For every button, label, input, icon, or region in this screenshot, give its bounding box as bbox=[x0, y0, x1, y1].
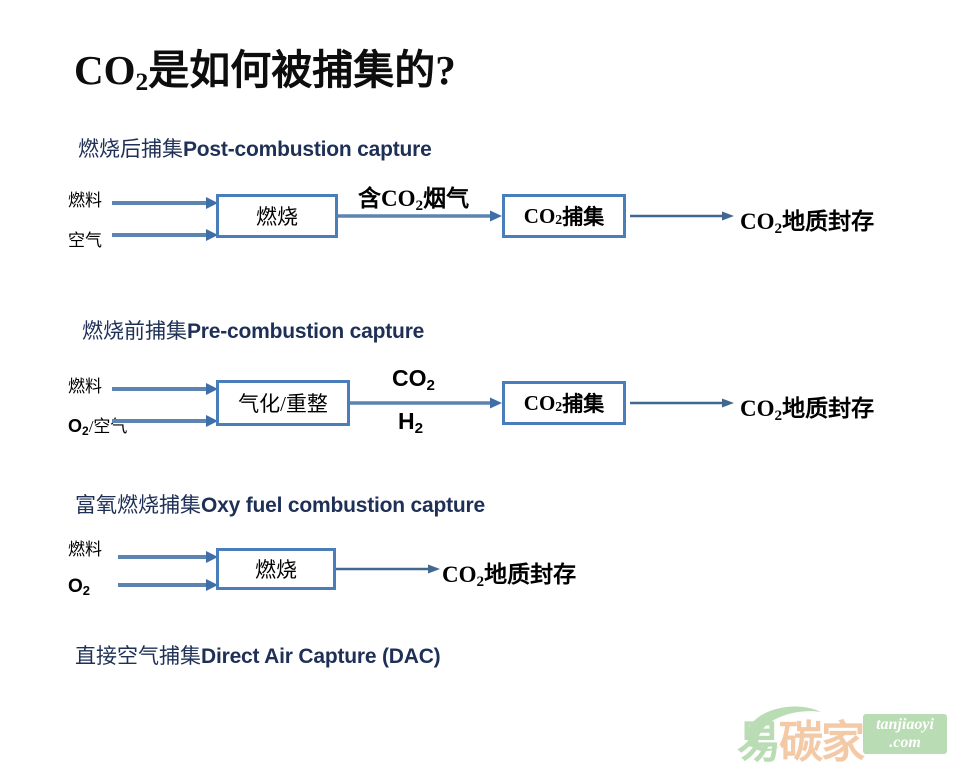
page-title-subscript: 2 bbox=[136, 68, 149, 96]
watermark-char-3: 家 bbox=[821, 718, 863, 767]
stream-label-air-1: 空气 bbox=[68, 226, 102, 251]
section-heading-pre-combustion: 燃烧前捕集Pre-combustion capture bbox=[82, 315, 424, 345]
process-box-co2-capture-2[interactable]: CO2捕集 bbox=[502, 381, 626, 425]
flow-label-flue-gas: 含CO2烟气 bbox=[358, 179, 469, 213]
section-heading-en-3: Oxy fuel combustion capture bbox=[201, 494, 485, 517]
arrow-combustion-to-storage-3 bbox=[336, 563, 440, 585]
endpoint-label-storage-2: CO2地质封存 bbox=[740, 389, 874, 423]
section-heading-en-4: Direct Air Capture (DAC) bbox=[201, 645, 440, 668]
endpoint-label-storage-3-sub: 2 bbox=[477, 573, 485, 590]
section-heading-cn: 燃烧后捕集 bbox=[78, 137, 183, 161]
process-box-co2-capture-1-pre: CO bbox=[524, 204, 556, 229]
endpoint-label-storage-1-pre: CO bbox=[740, 209, 775, 234]
stream-label-oxygen-air-2-o: O bbox=[68, 416, 82, 436]
process-box-gasification-label: 气化/重整 bbox=[238, 388, 328, 418]
process-box-combustion-3[interactable]: 燃烧 bbox=[216, 548, 336, 590]
endpoint-label-storage-3-post: 地质封存 bbox=[484, 562, 576, 587]
section-heading-oxyfuel: 富氧燃烧捕集Oxy fuel combustion capture bbox=[75, 489, 485, 519]
page-title: CO2是如何被捕集的? bbox=[74, 36, 456, 96]
arrow-fuel-to-gasification bbox=[112, 382, 218, 404]
endpoint-label-storage-1: CO2地质封存 bbox=[740, 202, 874, 236]
stream-label-oxygen-air-2-sub: 2 bbox=[82, 424, 89, 438]
stream-label-oxygen-3-o: O bbox=[68, 576, 83, 597]
watermark-badge: tanjiaoyi .com bbox=[863, 714, 947, 754]
watermark-badge-line1: tanjiaoyi bbox=[863, 716, 947, 734]
process-box-combustion-1-label: 燃烧 bbox=[256, 201, 298, 231]
arrow-oxygen-to-gasification bbox=[112, 414, 218, 436]
process-box-co2-capture-1-sub: 2 bbox=[555, 212, 562, 228]
section-heading-cn-3: 富氧燃烧捕集 bbox=[75, 493, 201, 517]
process-box-combustion-1[interactable]: 燃烧 bbox=[216, 194, 338, 238]
page-title-text: 是如何被捕集的? bbox=[148, 47, 456, 93]
endpoint-label-storage-2-pre: CO bbox=[740, 396, 775, 421]
endpoint-label-storage-1-post: 地质封存 bbox=[782, 209, 874, 234]
process-box-combustion-3-label: 燃烧 bbox=[255, 554, 297, 584]
stream-label-oxygen-3: O2 bbox=[68, 576, 90, 598]
page-title-formula: CO bbox=[74, 47, 136, 93]
section-heading-en-2: Pre-combustion capture bbox=[187, 320, 424, 343]
arrow-gasification-to-capture-2 bbox=[350, 396, 502, 418]
process-box-co2-capture-2-sub: 2 bbox=[555, 399, 562, 415]
process-box-co2-capture-1-post: 捕集 bbox=[562, 201, 604, 231]
endpoint-label-storage-2-sub: 2 bbox=[775, 407, 783, 424]
arrow-fuel-to-combustion-1 bbox=[112, 196, 218, 218]
endpoint-label-storage-1-sub: 2 bbox=[775, 220, 783, 237]
arrow-capture-to-storage-2 bbox=[630, 397, 734, 419]
watermark-char-2: 碳 bbox=[779, 718, 821, 767]
arrow-air-to-combustion-1 bbox=[112, 228, 218, 250]
watermark-text: 易碳家 bbox=[737, 706, 863, 768]
arrow-fuel-to-combustion-3 bbox=[118, 550, 218, 572]
watermark-char-1: 易 bbox=[737, 718, 779, 767]
section-heading-en: Post-combustion capture bbox=[183, 138, 432, 161]
process-box-co2-capture-2-pre: CO bbox=[524, 391, 556, 416]
flow-label-co2-2: CO2 bbox=[392, 365, 435, 392]
endpoint-label-storage-3: CO2地质封存 bbox=[442, 555, 576, 589]
flow-label-co2-2-pre: CO bbox=[392, 365, 427, 391]
endpoint-label-storage-3-pre: CO bbox=[442, 562, 477, 587]
section-heading-cn-4: 直接空气捕集 bbox=[75, 644, 201, 668]
process-box-co2-capture-2-post: 捕集 bbox=[562, 388, 604, 418]
arrow-oxygen-to-combustion-3 bbox=[118, 578, 218, 600]
section-heading-dac: 直接空气捕集Direct Air Capture (DAC) bbox=[75, 640, 440, 670]
arrow-combustion-to-capture-1 bbox=[338, 209, 502, 231]
slide-canvas: CO2是如何被捕集的? 燃烧后捕集Post-combustion capture… bbox=[0, 0, 960, 768]
stream-label-fuel-3: 燃料 bbox=[68, 535, 102, 560]
process-box-co2-capture-1[interactable]: CO2捕集 bbox=[502, 194, 626, 238]
section-heading-cn-2: 燃烧前捕集 bbox=[82, 319, 187, 343]
stream-label-fuel-2: 燃料 bbox=[68, 372, 102, 397]
arrow-capture-to-storage-1 bbox=[630, 210, 734, 232]
flow-label-h2-2-sub: 2 bbox=[415, 420, 423, 437]
flow-label-co2-2-sub: 2 bbox=[427, 377, 435, 394]
watermark-badge-line2: .com bbox=[863, 734, 947, 752]
watermark-logo: 易碳家 tanjiaoyi .com bbox=[735, 702, 947, 762]
section-heading-post-combustion: 燃烧后捕集Post-combustion capture bbox=[78, 133, 432, 163]
flow-label-flue-gas-pre: 含CO bbox=[358, 186, 416, 211]
endpoint-label-storage-2-post: 地质封存 bbox=[782, 396, 874, 421]
stream-label-oxygen-3-sub: 2 bbox=[83, 583, 90, 598]
flow-label-flue-gas-post: 烟气 bbox=[423, 186, 469, 211]
stream-label-fuel-1: 燃料 bbox=[68, 186, 102, 211]
process-box-gasification-reforming[interactable]: 气化/重整 bbox=[216, 380, 350, 426]
